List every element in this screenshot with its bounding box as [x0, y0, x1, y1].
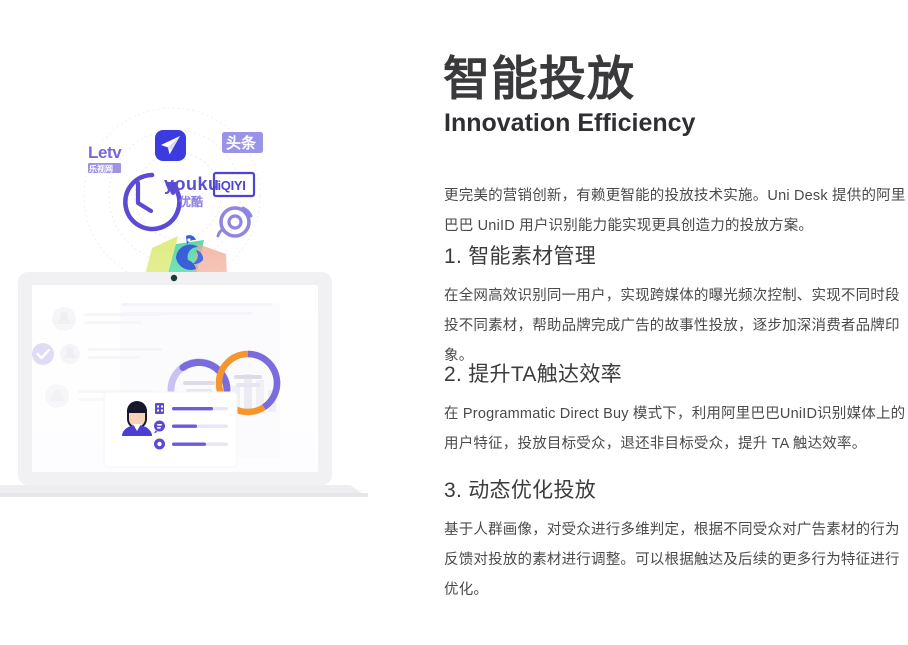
- logo-toutiao: 头条: [222, 132, 263, 153]
- page-title-en: Innovation Efficiency: [444, 107, 695, 139]
- svg-text:iQIYI: iQIYI: [218, 178, 246, 193]
- profile-card: [104, 392, 237, 467]
- section-1: 1. 智能素材管理 在全网高效识别同一用户，实现跨媒体的曝光频次控制、实现不同时…: [444, 242, 906, 371]
- svg-text:Letv: Letv: [88, 143, 122, 162]
- illustration-graphic: Letv 乐视网 头条 youku 优酷 iQIYI: [0, 0, 420, 645]
- section-3-body: 基于人群画像，对受众进行多维判定，根据不同受众对广告素材的行为反馈对投放的素材进…: [444, 515, 906, 605]
- section-3: 3. 动态优化投放 基于人群画像，对受众进行多维判定，根据不同受众对广告素材的行…: [444, 476, 906, 605]
- section-3-heading: 3. 动态优化投放: [444, 476, 906, 506]
- svg-text:youku: youku: [164, 174, 220, 194]
- logo-paper-plane-app: [155, 130, 186, 161]
- section-2-body: 在 Programmatic Direct Buy 模式下，利用阿里巴巴UniI…: [444, 399, 906, 459]
- logo-weibo: [218, 208, 251, 236]
- logo-youku: youku 优酷: [164, 174, 220, 209]
- logo-iqiyi: iQIYI: [214, 173, 254, 196]
- illustration-panel: Letv 乐视网 头条 youku 优酷 iQIYI: [0, 0, 420, 645]
- svg-text:优酷: 优酷: [179, 194, 203, 209]
- content-panel: 智能投放 Innovation Efficiency 更完美的营销创新，有赖更智…: [443, 0, 908, 645]
- svg-text:头条: 头条: [226, 134, 257, 152]
- page-root: Letv 乐视网 头条 youku 优酷 iQIYI: [0, 0, 908, 645]
- section-1-body: 在全网高效识别同一用户，实现跨媒体的曝光频次控制、实现不同时段投不同素材，帮助品…: [444, 281, 906, 371]
- section-2-heading: 2. 提升TA触达效率: [444, 360, 906, 390]
- section-1-heading: 1. 智能素材管理: [444, 242, 906, 272]
- page-title-cn: 智能投放: [443, 50, 635, 108]
- intro-paragraph: 更完美的营销创新，有赖更智能的投放技术实施。Uni Desk 提供的阿里巴巴 U…: [444, 181, 906, 241]
- section-2: 2. 提升TA触达效率 在 Programmatic Direct Buy 模式…: [444, 360, 906, 459]
- logo-letv: Letv 乐视网: [88, 143, 122, 174]
- svg-text:乐视网: 乐视网: [89, 164, 113, 174]
- camera-dot: [171, 275, 177, 281]
